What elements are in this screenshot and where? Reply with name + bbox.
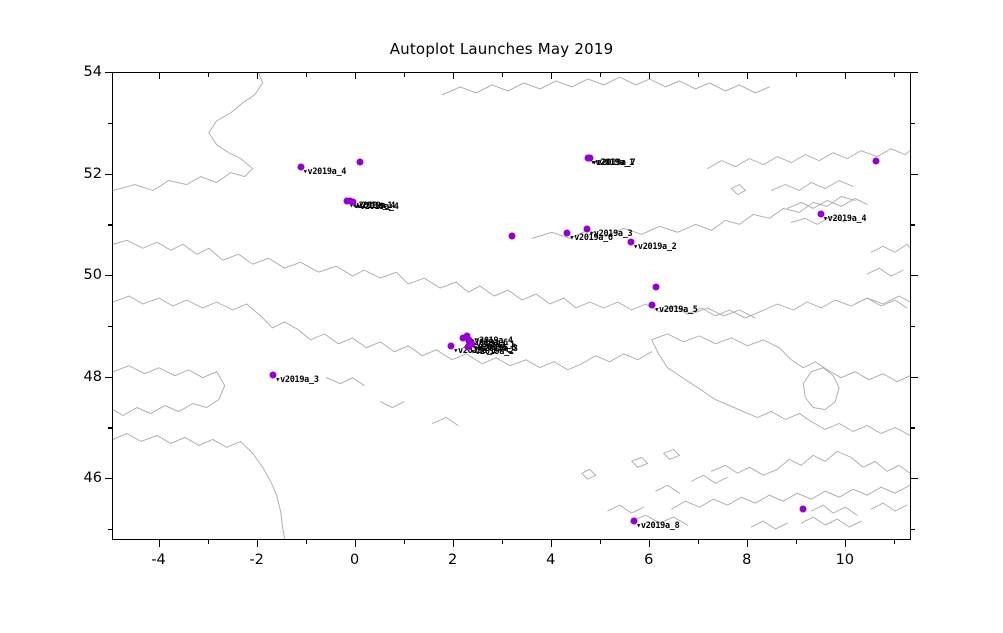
x-minor-tick-top <box>796 73 797 77</box>
y-minor-tick-right <box>911 326 915 327</box>
x-major-tick-top <box>257 72 258 79</box>
y-major-tick-right <box>911 72 918 73</box>
y-major-tick <box>105 275 112 276</box>
data-point[interactable] <box>508 233 515 240</box>
x-major-tick <box>747 540 748 547</box>
x-major-tick <box>257 540 258 547</box>
y-minor-tick-right <box>911 427 915 428</box>
y-minor-tick <box>108 427 112 428</box>
data-point[interactable] <box>356 158 363 165</box>
x-major-tick <box>551 540 552 547</box>
plot-title: Autoplot Launches May 2019 <box>0 40 1003 58</box>
map-plot-area[interactable]: ▾v2019a_4▾v2019a_1▾v2019a_4▾v2019a_4▾v20… <box>112 72 911 540</box>
x-major-tick-top <box>453 72 454 79</box>
x-major-tick-top <box>845 72 846 79</box>
x-minor-tick <box>208 540 209 544</box>
y-tick-label: 48 <box>60 369 102 385</box>
data-points-layer: ▾v2019a_4▾v2019a_1▾v2019a_4▾v2019a_4▾v20… <box>113 73 910 539</box>
y-minor-tick <box>108 326 112 327</box>
data-point-label: ▾v2019a_5 <box>654 305 697 315</box>
data-point[interactable] <box>873 157 880 164</box>
y-minor-tick <box>108 529 112 530</box>
x-major-tick-top <box>747 72 748 79</box>
x-tick-label: 0 <box>350 552 359 568</box>
y-minor-tick <box>108 224 112 225</box>
data-point-label: ▾v2019a_4 <box>355 202 398 212</box>
y-minor-tick-right <box>911 224 915 225</box>
x-minor-tick-top <box>502 73 503 77</box>
y-major-tick-right <box>911 174 918 175</box>
x-minor-tick-top <box>600 73 601 77</box>
x-major-tick-top <box>159 72 160 79</box>
x-minor-tick <box>894 540 895 544</box>
y-major-tick-right <box>911 478 918 479</box>
x-major-tick-top <box>355 72 356 79</box>
data-point[interactable] <box>799 505 806 512</box>
x-tick-label: 10 <box>836 552 854 568</box>
x-minor-tick <box>306 540 307 544</box>
data-point-label: ▾v2019a_4 <box>823 214 866 224</box>
x-tick-label: 8 <box>742 552 751 568</box>
x-major-tick-top <box>649 72 650 79</box>
x-minor-tick <box>600 540 601 544</box>
y-major-tick <box>105 72 112 73</box>
y-major-tick <box>105 377 112 378</box>
x-tick-label: 2 <box>448 552 457 568</box>
x-major-tick <box>159 540 160 547</box>
y-major-tick-right <box>911 377 918 378</box>
data-point-label: ▾v2019a_8 <box>636 521 679 531</box>
data-point[interactable] <box>652 284 659 291</box>
y-minor-tick <box>108 123 112 124</box>
y-tick-label: 52 <box>60 166 102 182</box>
y-tick-label: 50 <box>60 267 102 283</box>
x-minor-tick-top <box>698 73 699 77</box>
x-minor-tick-top <box>208 73 209 77</box>
x-minor-tick <box>404 540 405 544</box>
data-point-label: ▾v2019a_3 <box>275 375 318 385</box>
y-minor-tick-right <box>911 529 915 530</box>
data-point-label: ▾v2019a_7 <box>592 158 635 168</box>
y-major-tick <box>105 478 112 479</box>
figure-canvas: Autoplot Launches May 2019 <box>0 0 1003 633</box>
data-point-label: ▾v2019a_2 <box>470 347 513 357</box>
y-major-tick-right <box>911 275 918 276</box>
x-minor-tick <box>698 540 699 544</box>
x-minor-tick <box>502 540 503 544</box>
x-minor-tick-top <box>894 73 895 77</box>
x-major-tick <box>453 540 454 547</box>
x-major-tick <box>845 540 846 547</box>
x-minor-tick <box>796 540 797 544</box>
data-point-label: ▾v2019a_2 <box>633 242 676 252</box>
y-tick-label: 46 <box>60 470 102 486</box>
data-point-label: ▾v2019a_3 <box>589 229 632 239</box>
x-major-tick <box>649 540 650 547</box>
y-major-tick <box>105 174 112 175</box>
x-tick-label: -2 <box>249 552 263 568</box>
x-minor-tick-top <box>306 73 307 77</box>
data-point-label: ▾v2019a_4 <box>303 167 346 177</box>
x-minor-tick-top <box>404 73 405 77</box>
x-tick-label: 6 <box>644 552 653 568</box>
x-major-tick-top <box>551 72 552 79</box>
x-major-tick <box>355 540 356 547</box>
x-tick-label: 4 <box>546 552 555 568</box>
x-tick-label: -4 <box>151 552 165 568</box>
y-tick-label: 54 <box>60 64 102 80</box>
y-minor-tick-right <box>911 123 915 124</box>
